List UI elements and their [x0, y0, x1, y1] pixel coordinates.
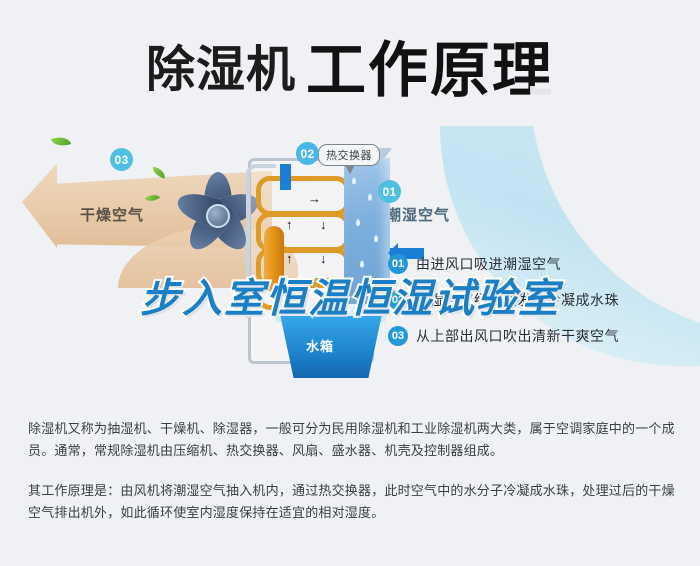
water-tank-label: 水箱	[306, 336, 334, 355]
dry-air-label: 干燥空气	[80, 204, 144, 225]
water-droplet-icon	[374, 235, 378, 242]
diagram-badge-01: 01	[378, 180, 401, 203]
water-droplet-icon	[368, 193, 372, 200]
flow-arrow-right-icon: →	[308, 192, 321, 205]
body-copy: 除湿机又称为抽湿机、干燥机、除湿器，一般可分为民用除湿机和工业除湿机两大类，属于…	[28, 418, 676, 542]
flow-arrow-up-icon: ↑	[286, 218, 293, 231]
body-paragraph-1: 除湿机又称为抽湿机、干燥机、除湿器，一般可分为民用除湿机和工业除湿机两大类，属于…	[28, 418, 676, 462]
flow-arrow-up-icon: ↑	[286, 252, 293, 265]
leaf-icon	[151, 166, 167, 178]
heat-exchanger-callout: 热交换器	[318, 144, 380, 166]
diagram-badge-02: 02	[296, 142, 319, 165]
page-root: 除湿机工作原理 干燥空气 潮湿空气	[0, 0, 700, 566]
water-droplet-icon	[352, 177, 356, 184]
page-title-part-1: 除湿机	[146, 43, 296, 97]
body-paragraph-2: 其工作原理是：由风机将潮湿空气抽入机内，通过热交换器，此时空气中的水分子冷凝成水…	[28, 480, 676, 524]
legend-badge-03: 03	[388, 326, 408, 346]
watermark-overlay-text: 步入室恒温恒湿试验室	[0, 266, 700, 324]
fan-hub	[206, 204, 230, 228]
leaf-icon	[51, 133, 72, 149]
water-droplet-icon	[356, 219, 360, 226]
coil-row	[256, 176, 350, 216]
humid-air-label: 潮湿空气	[386, 204, 450, 225]
page-title-part-2: 工作原理	[306, 37, 554, 104]
flow-arrow-down-icon: ↓	[320, 218, 327, 231]
diagram-badge-03: 03	[110, 148, 133, 171]
flow-arrow-down-icon: ↓	[320, 252, 327, 265]
legend-text-03: 从上部出风口吹出清新干爽空气	[416, 326, 619, 346]
air-outlet-arrow-icon	[280, 164, 291, 190]
